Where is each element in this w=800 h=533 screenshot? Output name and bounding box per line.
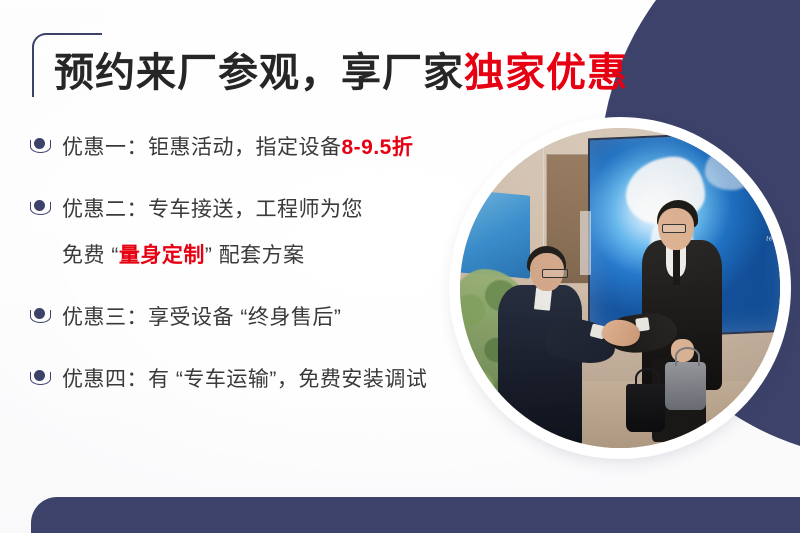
list-item-text-plain: 优惠三：享受设备 “终身售后” (62, 306, 341, 329)
photo-left-person-glasses (542, 269, 568, 278)
promo-banner: 预约来厂参观，享厂家独家优惠 优惠一：钜惠活动，指定设备8-9.5折 优惠二：专… (0, 0, 800, 533)
list-item-text: 优惠二：专车接送，工程师为您 免费 “量身定制” 配套方案 (62, 194, 363, 272)
photo-screen-text-2: ted J (766, 235, 780, 243)
photo-grey-handbag (665, 362, 707, 410)
list-item-text-plain: 优惠二：专车接送，工程师为您 (62, 198, 363, 221)
photo-secondary-screen (460, 188, 530, 278)
list-item-text-plain: 优惠四：有 “专车运输”，免费安装调试 (62, 368, 427, 391)
bullet-dot-icon (30, 306, 52, 328)
list-item-text-accent: 8-9.5折 (342, 136, 414, 159)
list-item-text-plain: 优惠一：钜惠活动，指定设备 (62, 136, 342, 159)
photo-dark-handbag (626, 384, 664, 432)
list-item: 优惠一：钜惠活动，指定设备8-9.5折 (30, 132, 460, 164)
list-item-text-plain-2: 免费 “ (62, 244, 119, 267)
benefits-list: 优惠一：钜惠活动，指定设备8-9.5折 优惠二：专车接送，工程师为您 免费 “量… (30, 132, 460, 396)
list-item-second-line: 免费 “量身定制” 配套方案 (62, 240, 363, 272)
photo-wall-panel (580, 211, 591, 275)
list-item: 优惠三：享受设备 “终身售后” (30, 302, 460, 334)
list-item-text: 优惠三：享受设备 “终身售后” (62, 302, 341, 334)
list-item-text-accent: 量身定制 (119, 244, 205, 267)
list-item: 优惠四：有 “专车运输”，免费安装调试 (30, 364, 460, 396)
page-title: 预约来厂参观，享厂家独家优惠 (54, 50, 628, 97)
bullet-dot-icon (30, 368, 52, 390)
bullet-dot-icon (30, 136, 52, 158)
photo-right-person-tie (673, 246, 681, 284)
bullet-dot-icon (30, 198, 52, 220)
list-item-text-tail: ” 配套方案 (205, 244, 305, 267)
bottom-navy-bar (31, 497, 800, 533)
handshake-photo: ng United ted J (455, 123, 785, 453)
page-title-plain: 预约来厂参观，享厂家 (54, 51, 464, 95)
list-item-text: 优惠四：有 “专车运输”，免费安装调试 (62, 364, 427, 396)
photo-right-person-glasses (662, 224, 686, 233)
handshake-photo-inner: ng United ted J (460, 128, 780, 448)
list-item-text: 优惠一：钜惠活动，指定设备8-9.5折 (62, 132, 413, 164)
list-item: 优惠二：专车接送，工程师为您 免费 “量身定制” 配套方案 (30, 194, 460, 272)
page-title-accent: 独家优惠 (464, 51, 628, 95)
